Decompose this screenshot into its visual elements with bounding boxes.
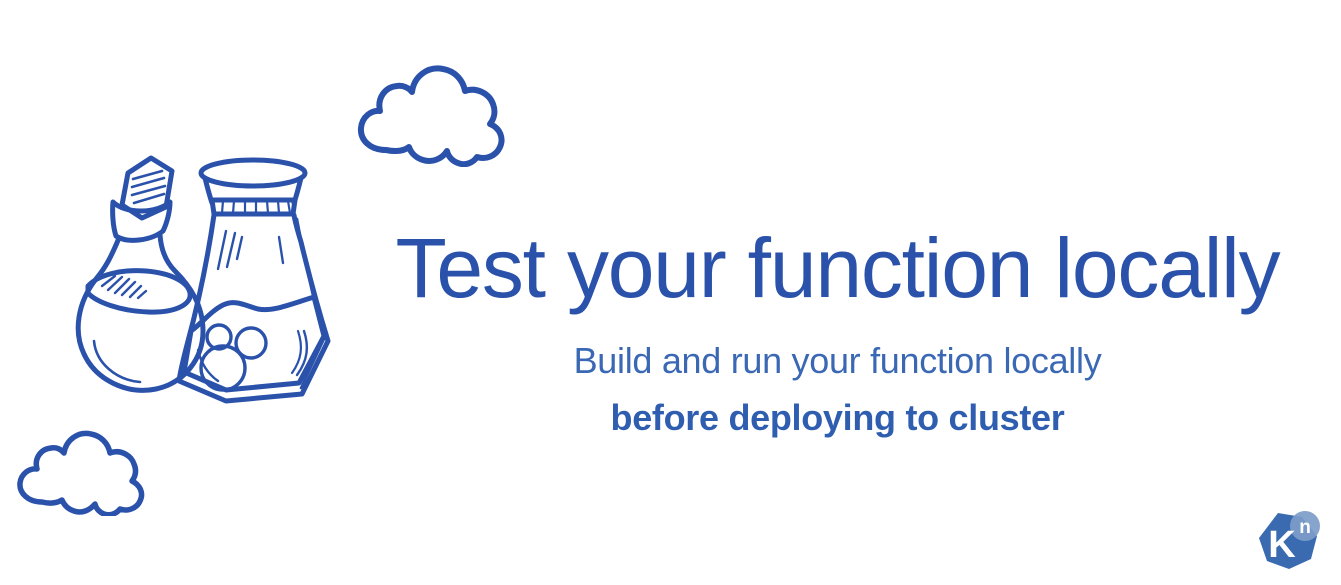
- cloud-top-icon: [350, 62, 510, 167]
- subtitle-line-1: Build and run your function locally: [380, 338, 1295, 385]
- slide-canvas: Test your function locally Build and run…: [0, 0, 1341, 585]
- laboratory-flasks-illustration: [66, 145, 386, 415]
- page-title: Test your function locally: [380, 225, 1295, 312]
- logo-letter-n: n: [1299, 517, 1311, 538]
- subtitle-block: Build and run your function locally befo…: [380, 338, 1295, 442]
- logo-letter-k: K: [1268, 524, 1296, 566]
- subtitle-line-2: before deploying to cluster: [380, 395, 1295, 442]
- headline-block: Test your function locally Build and run…: [380, 225, 1295, 442]
- cork-stopper: [122, 158, 172, 218]
- cloud-bottom-icon: [10, 428, 155, 516]
- knative-logo: K n: [1249, 503, 1323, 577]
